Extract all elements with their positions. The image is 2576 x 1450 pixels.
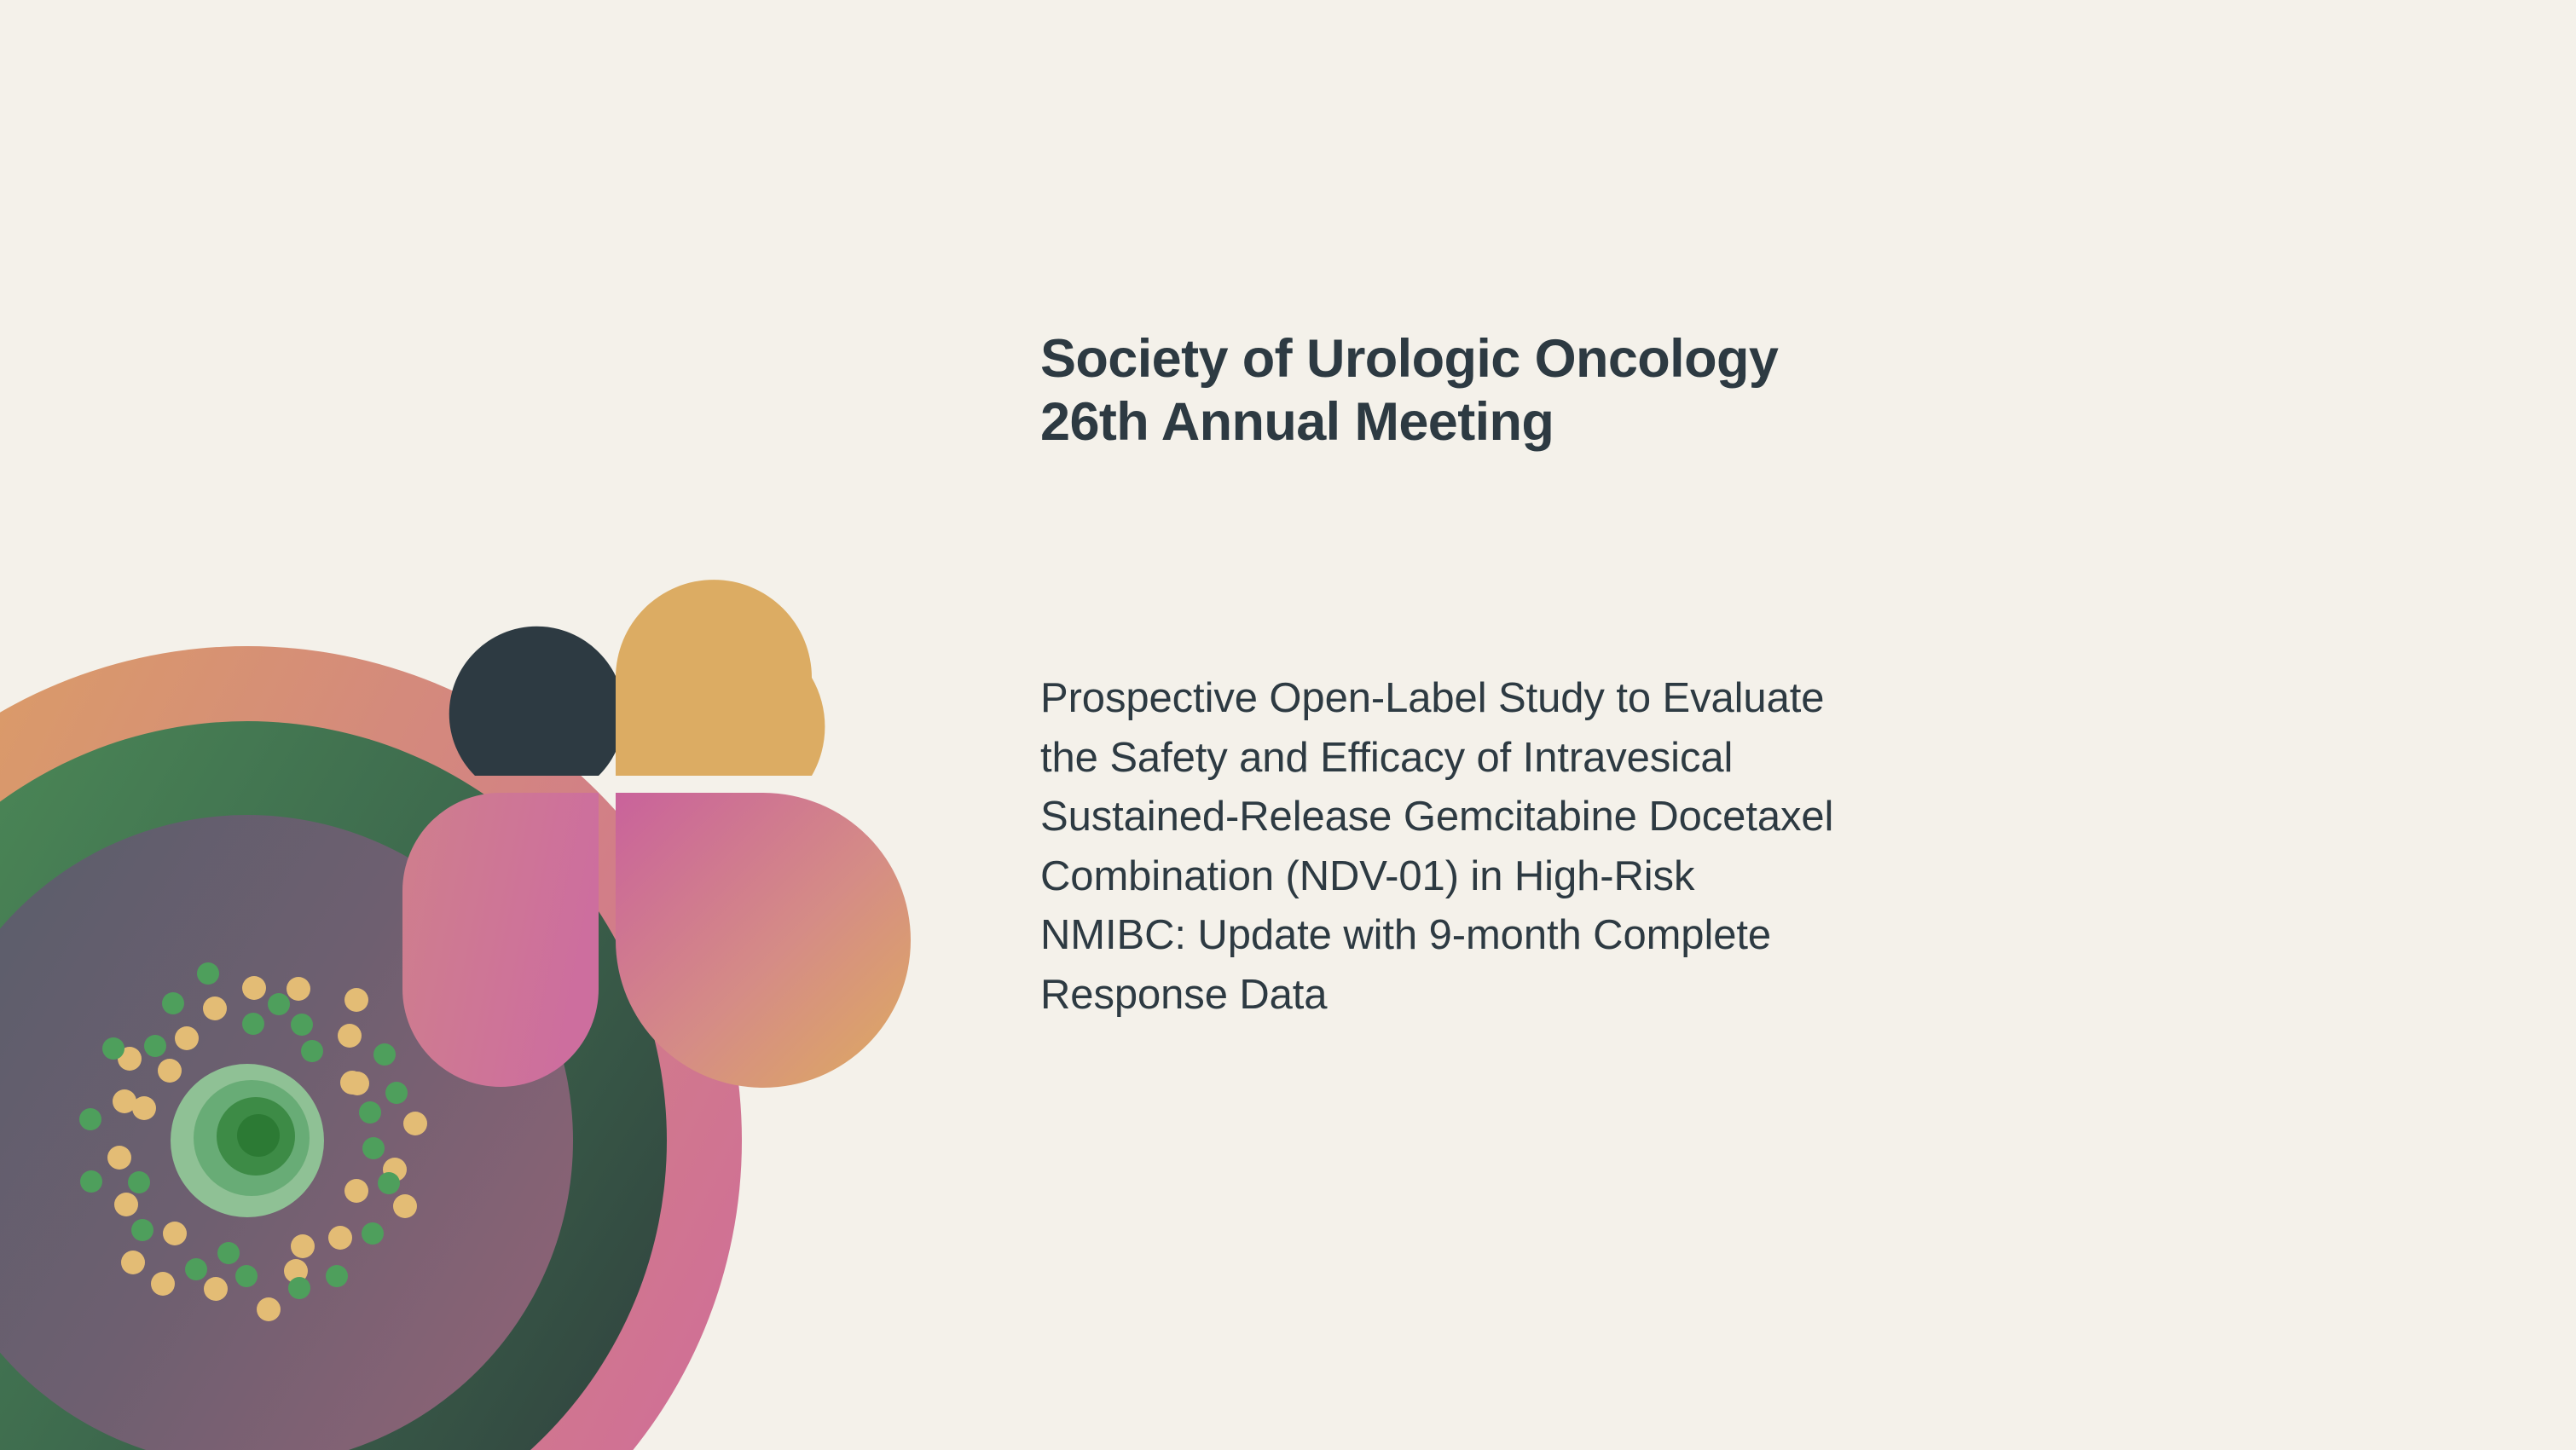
cell-nucleus	[171, 1064, 324, 1217]
slide-root: Society of Urologic Oncology 26th Annual…	[0, 0, 2576, 1450]
flower-cell-logo	[0, 0, 1006, 1450]
page-title: Society of Urologic Oncology 26th Annual…	[1040, 328, 2456, 453]
study-title: Prospective Open-Label Study to Evaluate…	[1040, 669, 2439, 1025]
petal-bottom-right	[616, 793, 911, 1088]
petal-top-left	[449, 627, 625, 776]
text-column: Society of Urologic Oncology 26th Annual…	[1040, 0, 2473, 1450]
petal-bottom-left	[402, 793, 599, 1087]
petal-top-right	[616, 580, 825, 776]
